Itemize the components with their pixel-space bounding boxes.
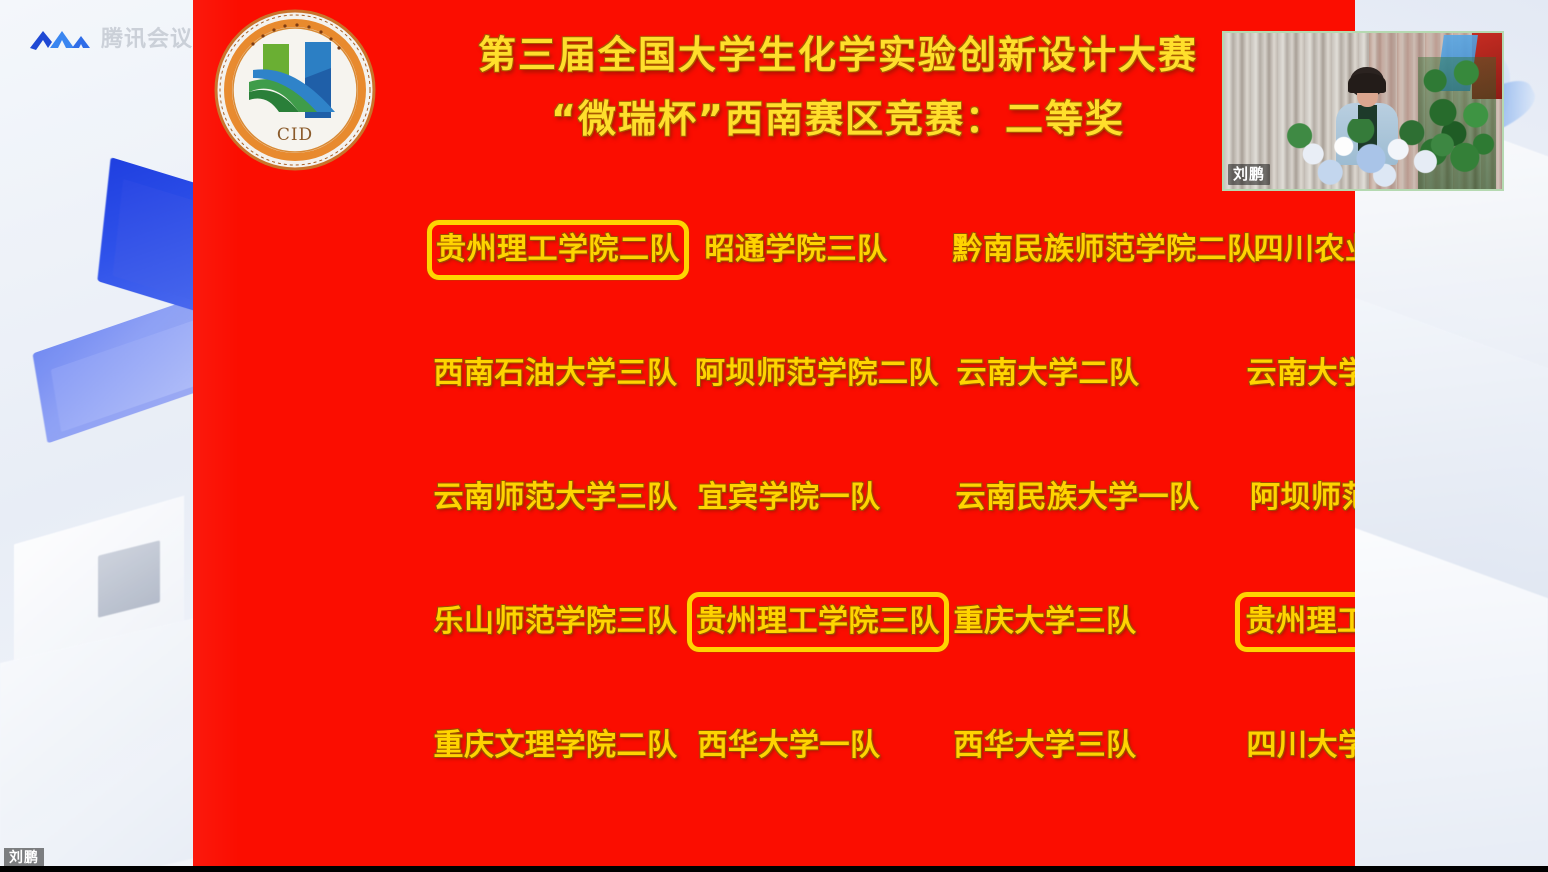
background-left-panel xyxy=(0,0,200,872)
award-team-label: 宜宾学院一队 xyxy=(698,483,881,513)
award-team-highlighted: 贵州理工学院三队 xyxy=(687,592,949,652)
award-team: 昭通学院三队 xyxy=(701,222,891,278)
award-team-label: 四川大学三队 xyxy=(1247,731,1356,761)
award-team: 阿坝师范学院一队 xyxy=(1248,470,1355,526)
award-team: 四川大学三队 xyxy=(1248,718,1355,774)
award-team-row: 乐山师范学院三队贵州理工学院三队重庆大学三队贵州理工学院一队 xyxy=(193,594,1355,718)
award-team-label: 阿坝师范学院二队 xyxy=(695,359,939,389)
award-team-label: 乐山师范学院三队 xyxy=(434,607,678,637)
tencent-meeting-logo-icon xyxy=(28,27,92,53)
award-team-label: 云南大学二队 xyxy=(957,359,1140,389)
award-team: 阿坝师范学院二队 xyxy=(693,346,941,402)
award-team: 云南师范大学三队 xyxy=(433,470,678,526)
tencent-meeting-brand-label: 腾讯会议 xyxy=(101,29,193,51)
award-team-highlighted: 贵州理工学院一队 xyxy=(1235,592,1355,652)
decorative-slab-left-b xyxy=(0,617,200,872)
tencent-meeting-watermark: 腾讯会议 xyxy=(28,27,193,53)
award-team-row: 重庆文理学院二队西华大学一队西华大学三队四川大学三队 xyxy=(193,718,1355,842)
award-team-label: 云南民族大学一队 xyxy=(956,483,1200,513)
award-team-row: 云南师范大学三队宜宾学院一队云南民族大学一队阿坝师范学院一队 xyxy=(193,470,1355,594)
award-team: 云南大学二队 xyxy=(958,346,1138,402)
award-team-label: 贵州理工学院三队 xyxy=(696,607,940,637)
award-team: 宜宾学院一队 xyxy=(699,470,879,526)
award-team-label: 西华大学三队 xyxy=(954,731,1137,761)
speaker-video-thumbnail[interactable]: 刘鹏 xyxy=(1222,31,1504,191)
award-team-label: 云南师范大学三队 xyxy=(434,483,678,513)
self-view-name-label: 刘鹏 xyxy=(4,848,44,868)
award-team-label: 贵州理工学院二队 xyxy=(436,235,680,265)
award-team-label: 重庆文理学院二队 xyxy=(434,731,678,761)
award-team-label: 西华大学一队 xyxy=(698,731,881,761)
award-team-label: 西南石油大学三队 xyxy=(434,359,678,389)
award-team: 云南大学三队 xyxy=(1248,346,1355,402)
award-team-label: 贵州理工学院一队 xyxy=(1246,607,1356,637)
bottom-bar xyxy=(0,866,1548,872)
award-team-label: 阿坝师范学院一队 xyxy=(1250,483,1355,513)
video-speaker-hair xyxy=(1348,73,1386,93)
video-podium-flowers xyxy=(1286,119,1456,191)
award-team-label: 黔南民族师范学院二队 xyxy=(953,235,1258,265)
shared-slide: CID 第三届全国大学生化学实验创新设计大赛 “微瑞杯”西南赛区竞赛：二等奖 贵… xyxy=(193,0,1355,866)
meeting-screen-share-view: 腾讯会议 xyxy=(0,0,1548,872)
award-team-row: 贵州理工学院二队昭通学院三队黔南民族师范学院二队四川农业大学三队 xyxy=(193,222,1355,346)
award-team: 西华大学三队 xyxy=(955,718,1135,774)
award-team-row: 西南石油大学三队阿坝师范学院二队云南大学二队云南大学三队 xyxy=(193,346,1355,470)
award-team: 云南民族大学一队 xyxy=(955,470,1200,526)
award-team-label: 四川农业大学三队 xyxy=(1254,235,1356,265)
award-team: 重庆文理学院二队 xyxy=(433,718,678,774)
award-team-label: 云南大学三队 xyxy=(1247,359,1356,389)
award-team-label: 重庆大学三队 xyxy=(954,607,1137,637)
award-team-highlighted: 贵州理工学院二队 xyxy=(427,220,689,280)
award-team: 西华大学一队 xyxy=(699,718,879,774)
slide-title-line-1: 第三届全国大学生化学实验创新设计大赛 xyxy=(378,30,1298,80)
svg-text:CID: CID xyxy=(277,125,313,145)
award-team: 西南石油大学三队 xyxy=(433,346,678,402)
award-team-label: 昭通学院三队 xyxy=(705,235,888,265)
slide-title-line-2: “微瑞杯”西南赛区竞赛：二等奖 xyxy=(378,94,1298,144)
award-team: 重庆大学三队 xyxy=(955,594,1135,650)
slide-title-block: 第三届全国大学生化学实验创新设计大赛 “微瑞杯”西南赛区竞赛：二等奖 xyxy=(378,30,1298,144)
award-team-grid: 贵州理工学院二队昭通学院三队黔南民族师范学院二队四川农业大学三队西南石油大学三队… xyxy=(193,222,1355,842)
cid-competition-logo-icon: CID xyxy=(213,8,377,172)
video-speaker-name-label: 刘鹏 xyxy=(1228,164,1270,185)
award-team: 乐山师范学院三队 xyxy=(433,594,678,650)
award-team: 四川农业大学三队 xyxy=(1253,222,1355,278)
award-team: 黔南民族师范学院二队 xyxy=(955,222,1255,278)
